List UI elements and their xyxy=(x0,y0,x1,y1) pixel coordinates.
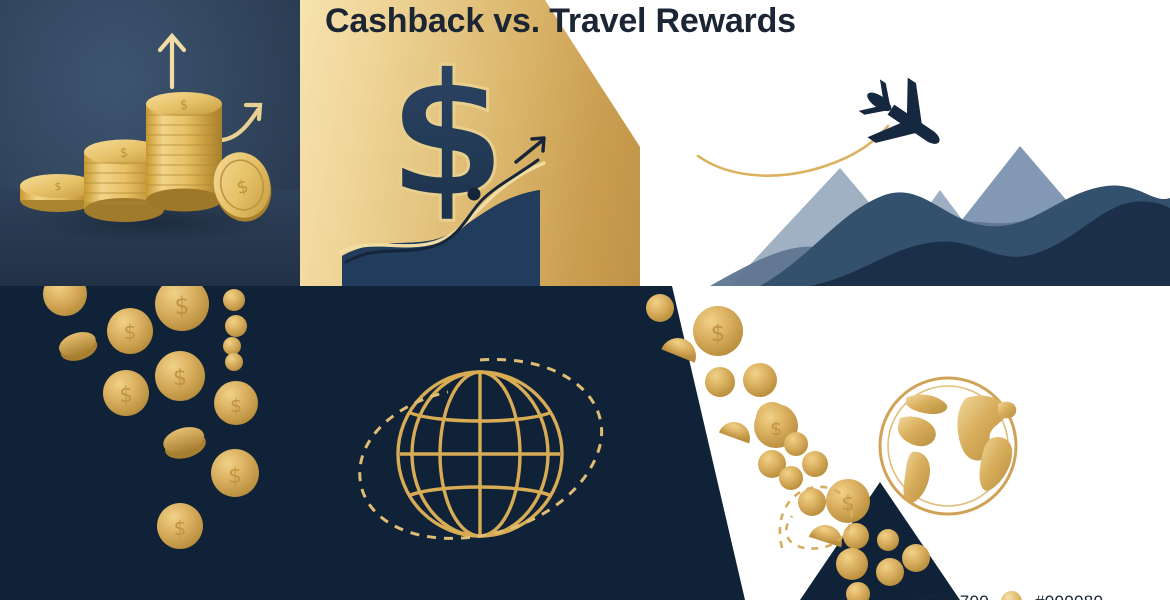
mountain-scene-illustration xyxy=(640,0,1170,286)
arrow-up-icon xyxy=(160,36,184,87)
svg-text:$: $ xyxy=(174,516,187,540)
svg-text:$: $ xyxy=(124,320,137,344)
earth-globe-icon xyxy=(880,378,1016,514)
dollar-sign-icon: $ xyxy=(387,35,507,236)
palette-hex-1: #FFD700 xyxy=(916,592,989,600)
wireframe-globe-icon xyxy=(330,326,630,586)
color-palette: #FFD700 #000080 #000080 #36454F xyxy=(916,591,1104,600)
infographic-canvas: $ $ $ xyxy=(0,0,1170,600)
gold-swatch-dot xyxy=(1001,591,1022,600)
coin-stacks-illustration: $ $ $ xyxy=(0,0,300,286)
page-title: Cashback vs. Travel Rewards xyxy=(325,2,796,41)
gold-coin-icon: $ $ $ $ $ $ $ xyxy=(43,286,259,600)
airplane-mountains-panel xyxy=(640,0,1170,286)
coin-stacks-panel: $ $ $ xyxy=(0,0,300,286)
svg-text:$: $ xyxy=(119,383,132,407)
mountain-icon xyxy=(710,146,1170,286)
airplane-icon xyxy=(848,64,960,172)
svg-text:$: $ xyxy=(174,292,189,320)
palette-hex-2: #000080 xyxy=(1035,592,1104,600)
svg-text:$: $ xyxy=(230,395,242,417)
svg-text:$: $ xyxy=(770,418,782,440)
svg-text:$: $ xyxy=(173,366,187,391)
svg-text:$: $ xyxy=(55,180,62,193)
coin-stream-chevron: $ $ $ xyxy=(600,286,1170,600)
svg-text:$: $ xyxy=(228,464,241,488)
svg-text:$: $ xyxy=(180,98,188,113)
svg-text:$: $ xyxy=(711,321,726,347)
coin-stack-tall: $ xyxy=(146,92,222,212)
chart-data-point xyxy=(468,188,481,201)
contrail-path xyxy=(698,126,888,176)
svg-text:$: $ xyxy=(387,35,507,236)
curved-arrow-icon xyxy=(222,105,260,140)
bottom-section: $ $ $ $ $ $ $ xyxy=(0,286,1170,600)
svg-text:$: $ xyxy=(120,146,128,161)
